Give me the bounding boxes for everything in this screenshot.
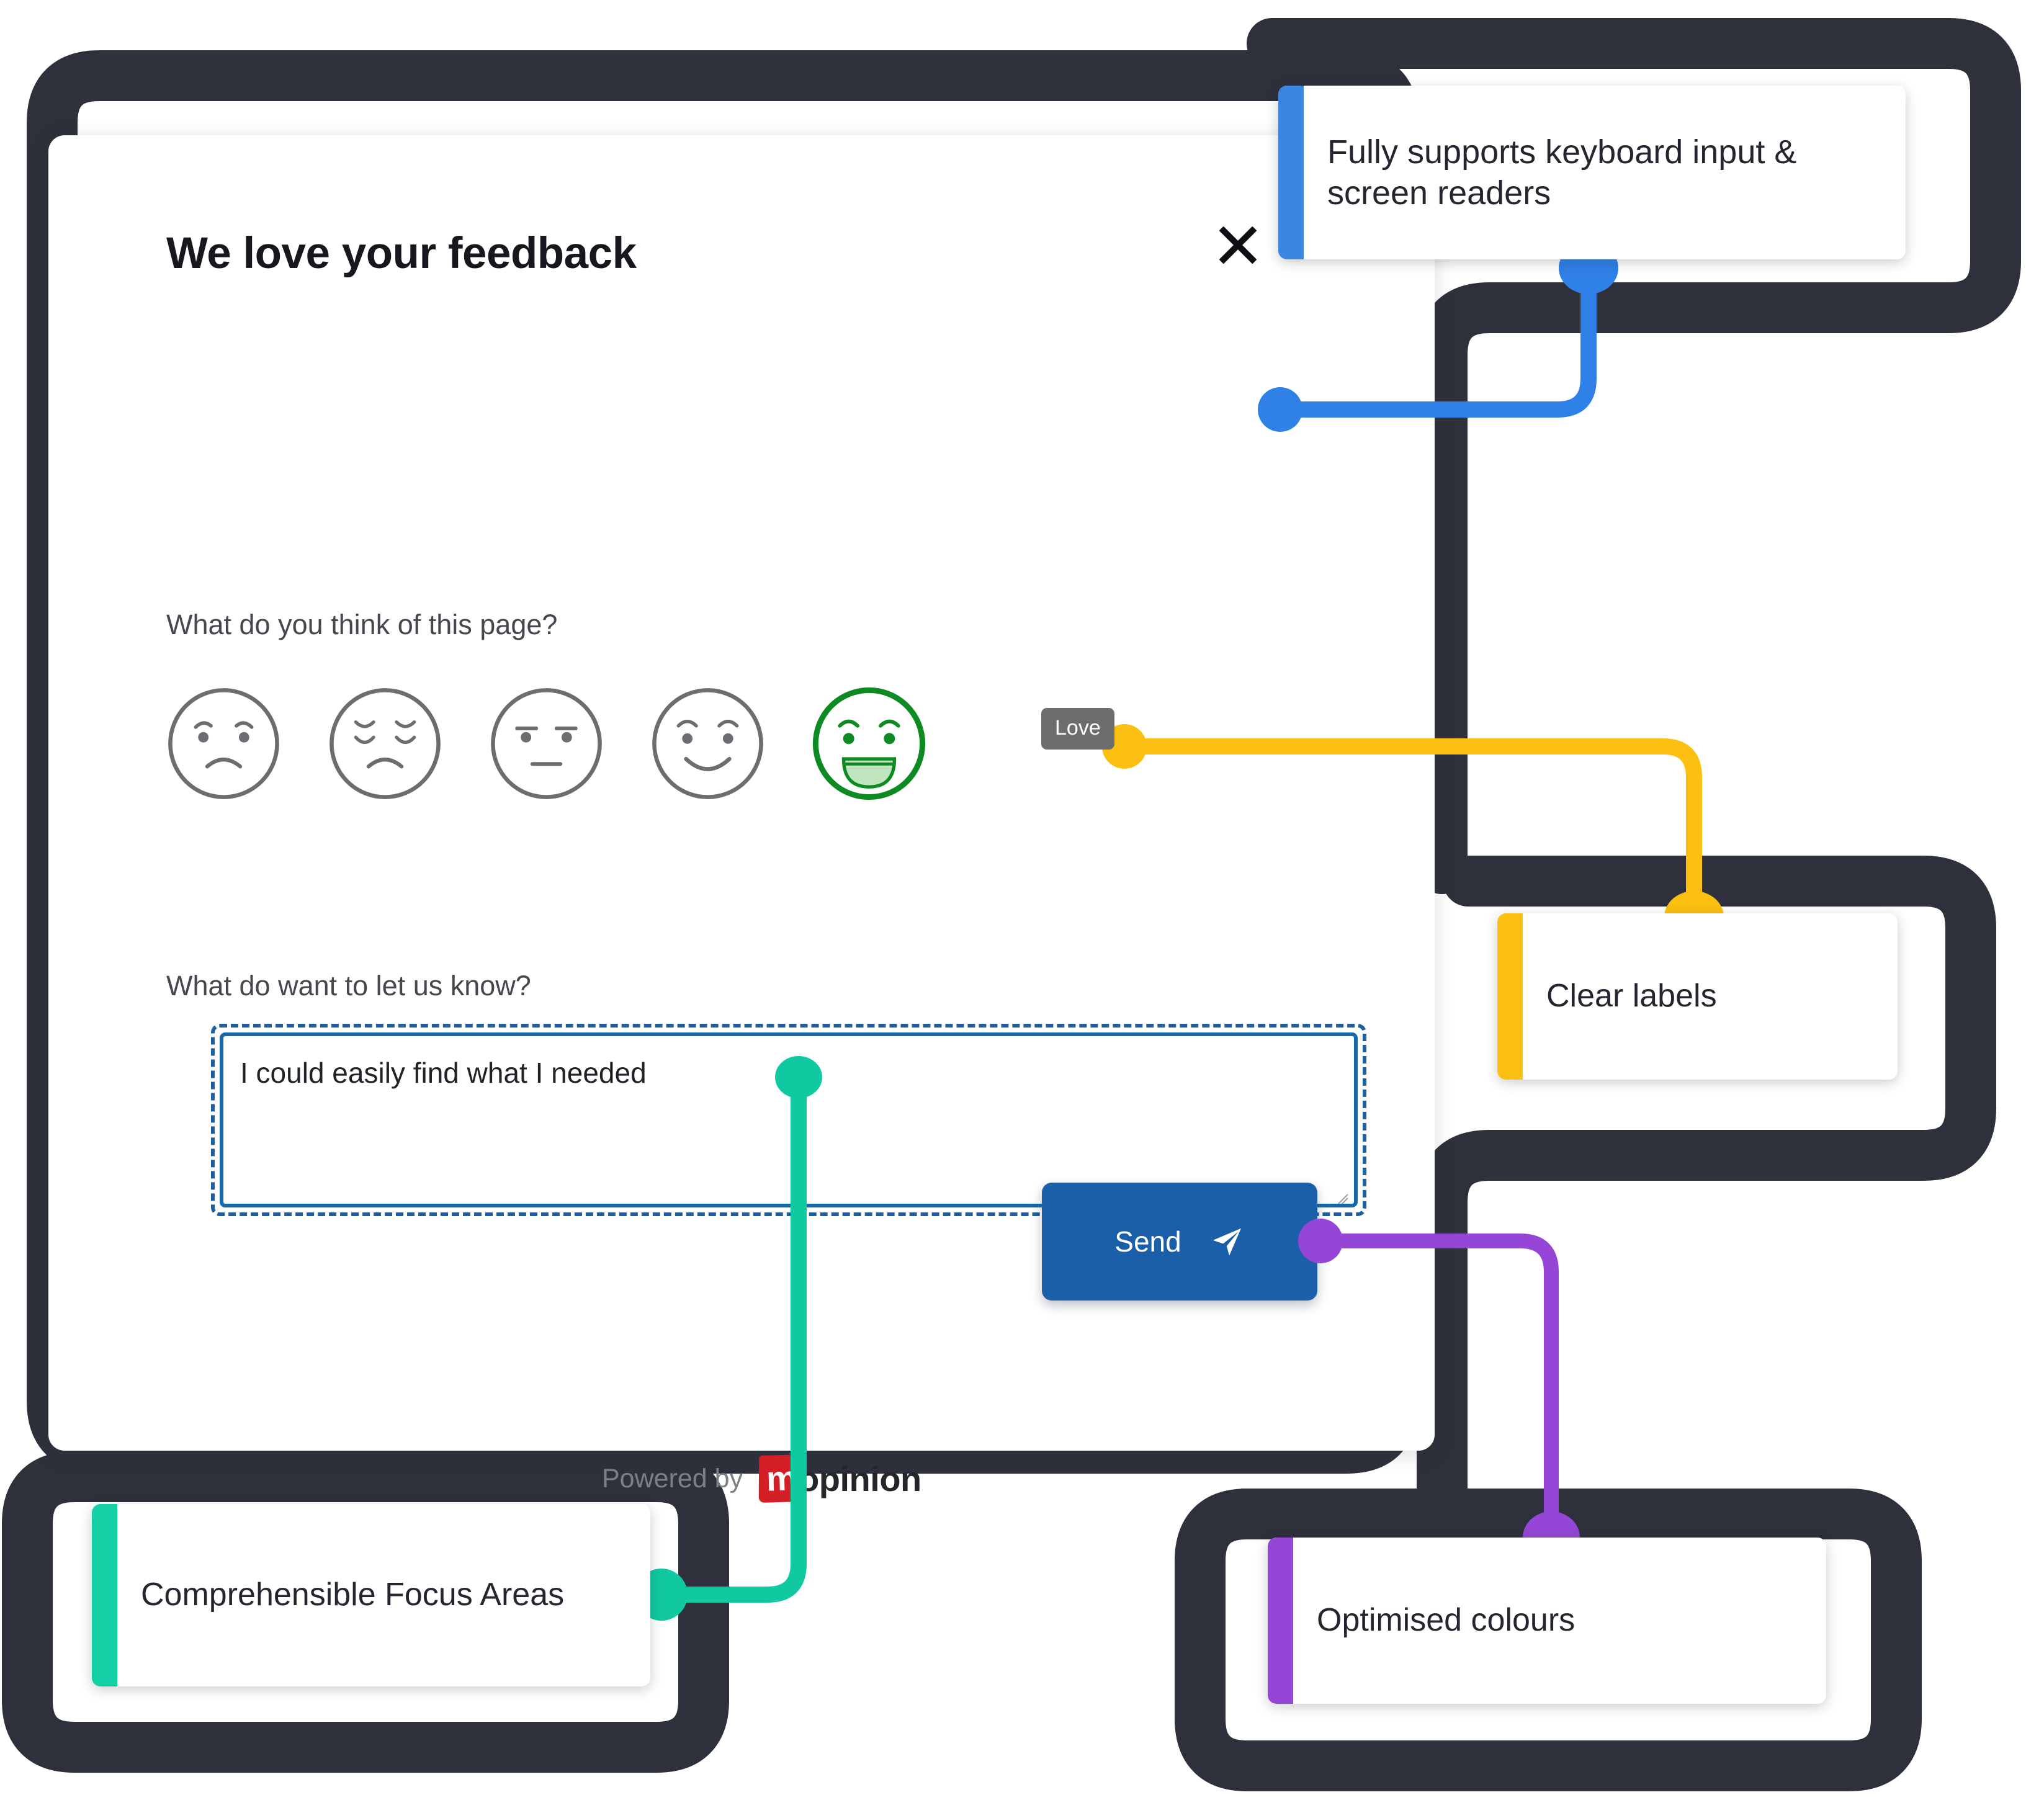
callout-accent-bar-keyboard	[1278, 86, 1304, 259]
smiley-sad-icon[interactable]	[321, 680, 449, 807]
comment-textarea[interactable]: I could easily find what I needed	[220, 1032, 1358, 1207]
mopinion-mark-icon: m	[759, 1454, 805, 1503]
callout-accent-bar-labels	[1497, 913, 1523, 1080]
powered-by-label: Powered by	[602, 1464, 743, 1494]
callout-colours-text: Optimised colours	[1293, 1601, 1592, 1641]
callout-colours: Optimised colours	[1268, 1538, 1826, 1704]
powered-by-footer: Powered by m opinion	[602, 1455, 921, 1502]
callout-keyboard: Fully supports keyboard input & screen r…	[1278, 86, 1906, 259]
send-button-label: Send	[1114, 1225, 1181, 1258]
close-icon[interactable]	[1211, 217, 1265, 271]
smiley-neutral-icon[interactable]	[483, 680, 610, 807]
send-button[interactable]: Send	[1042, 1183, 1317, 1301]
mopinion-logo: m opinion	[759, 1455, 921, 1502]
callout-focus: Comprehensible Focus Areas	[92, 1504, 650, 1686]
mopinion-mark-letter: m	[766, 1461, 797, 1496]
rating-question-label: What do you think of this page?	[166, 609, 557, 641]
callout-focus-text: Comprehensible Focus Areas	[117, 1575, 581, 1615]
callout-accent-bar-colours	[1268, 1538, 1293, 1704]
callout-labels: Clear labels	[1497, 913, 1898, 1080]
smiley-angry-icon[interactable]	[160, 680, 287, 807]
smiley-happy-icon[interactable]	[644, 680, 771, 807]
comment-textarea-value: I could easily find what I needed	[240, 1056, 647, 1090]
textarea-resize-handle[interactable]	[1327, 1178, 1349, 1200]
callout-labels-text: Clear labels	[1523, 977, 1734, 1016]
callout-keyboard-text: Fully supports keyboard input & screen r…	[1304, 132, 1906, 214]
smiley-love-icon[interactable]	[805, 680, 933, 807]
mopinion-wordmark: opinion	[798, 1459, 921, 1499]
comment-question-label: What do want to let us know?	[166, 970, 531, 1002]
selected-smiley-tooltip: Love	[1041, 708, 1114, 750]
annotated-screenshot: We love your feedback What do you think …	[0, 0, 2044, 1800]
callout-accent-bar-focus	[92, 1504, 117, 1686]
paper-plane-icon	[1209, 1224, 1245, 1260]
rating-smiley-scale[interactable]	[160, 680, 933, 807]
page-title: We love your feedback	[166, 228, 637, 279]
